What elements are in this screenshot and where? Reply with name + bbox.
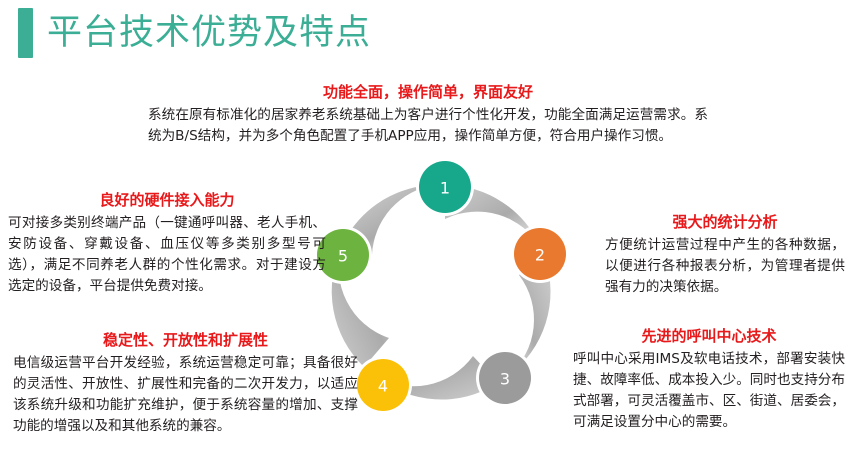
node-3-group[interactable]: 3	[476, 349, 534, 407]
item-2-heading: 强大的统计分析	[605, 212, 845, 234]
item-4-heading: 稳定性、开放性和扩展性	[13, 330, 358, 352]
item-4-body: 电信级运营平台开发经验，系统运营稳定可靠；具备很好的灵活性、开放性、扩展性和完备…	[13, 353, 358, 438]
node-1-group[interactable]: 1	[416, 158, 474, 216]
node-2-group[interactable]: 2	[511, 225, 569, 283]
item-4-block: 稳定性、开放性和扩展性 电信级运营平台开发经验，系统运营稳定可靠；具备很好的灵活…	[13, 330, 358, 438]
node-5-number: 5	[338, 247, 348, 266]
item-1-heading: 功能全面，操作简单，界面友好	[148, 82, 708, 104]
item-1-block: 功能全面，操作简单，界面友好 系统在原有标准化的居家养老系统基础上为客户进行个性…	[148, 82, 708, 147]
item-3-heading: 先进的呼叫中心技术	[573, 326, 845, 348]
item-5-heading: 良好的硬件接入能力	[8, 190, 326, 212]
item-1-body: 系统在原有标准化的居家养老系统基础上为客户进行个性化开发，功能全面满足运营需求。…	[148, 105, 708, 147]
item-2-block: 强大的统计分析 方便统计运营过程中产生的各种数据，以便进行各种报表分析，为管理者…	[605, 212, 845, 298]
slide-canvas: 平台技术优势及特点	[0, 0, 850, 462]
item-5-block: 良好的硬件接入能力 可对接多类别终端产品（一键通呼叫器、老人手机、安防设备、穿戴…	[8, 190, 326, 298]
item-3-body: 呼叫中心采用IMS及软电话技术，部署安装快捷、故障率低、成本投入少。同时也支持分…	[573, 349, 845, 434]
page-title: 平台技术优势及特点	[18, 8, 371, 58]
node-4-group[interactable]: 4	[354, 356, 412, 414]
item-2-body: 方便统计运营过程中产生的各种数据，以便进行各种报表分析，为管理者提供强有力的决策…	[605, 235, 845, 299]
node-2-number: 2	[535, 246, 545, 265]
title-text: 平台技术优势及特点	[47, 16, 371, 51]
node-1-number: 1	[440, 179, 450, 198]
item-5-body: 可对接多类别终端产品（一键通呼叫器、老人手机、安防设备、穿戴设备、血压仪等多类别…	[8, 213, 326, 298]
title-accent-bar	[18, 8, 33, 58]
item-3-block: 先进的呼叫中心技术 呼叫中心采用IMS及软电话技术，部署安装快捷、故障率低、成本…	[573, 326, 845, 434]
node-3-number: 3	[500, 370, 510, 389]
node-4-number: 4	[378, 377, 388, 396]
